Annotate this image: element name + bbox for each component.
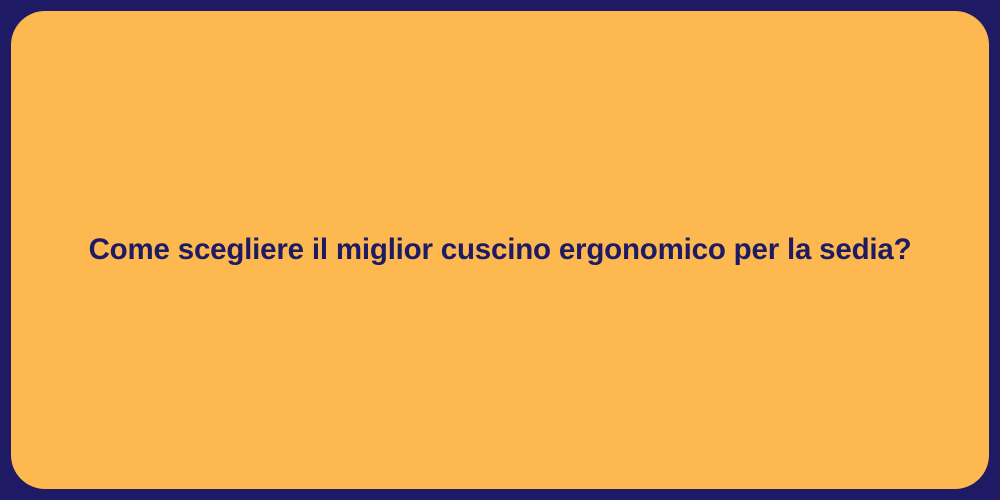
- page-canvas: Come scegliere il miglior cuscino ergono…: [0, 0, 1000, 500]
- content-card: Come scegliere il miglior cuscino ergono…: [11, 11, 989, 489]
- page-title: Come scegliere il miglior cuscino ergono…: [49, 232, 952, 269]
